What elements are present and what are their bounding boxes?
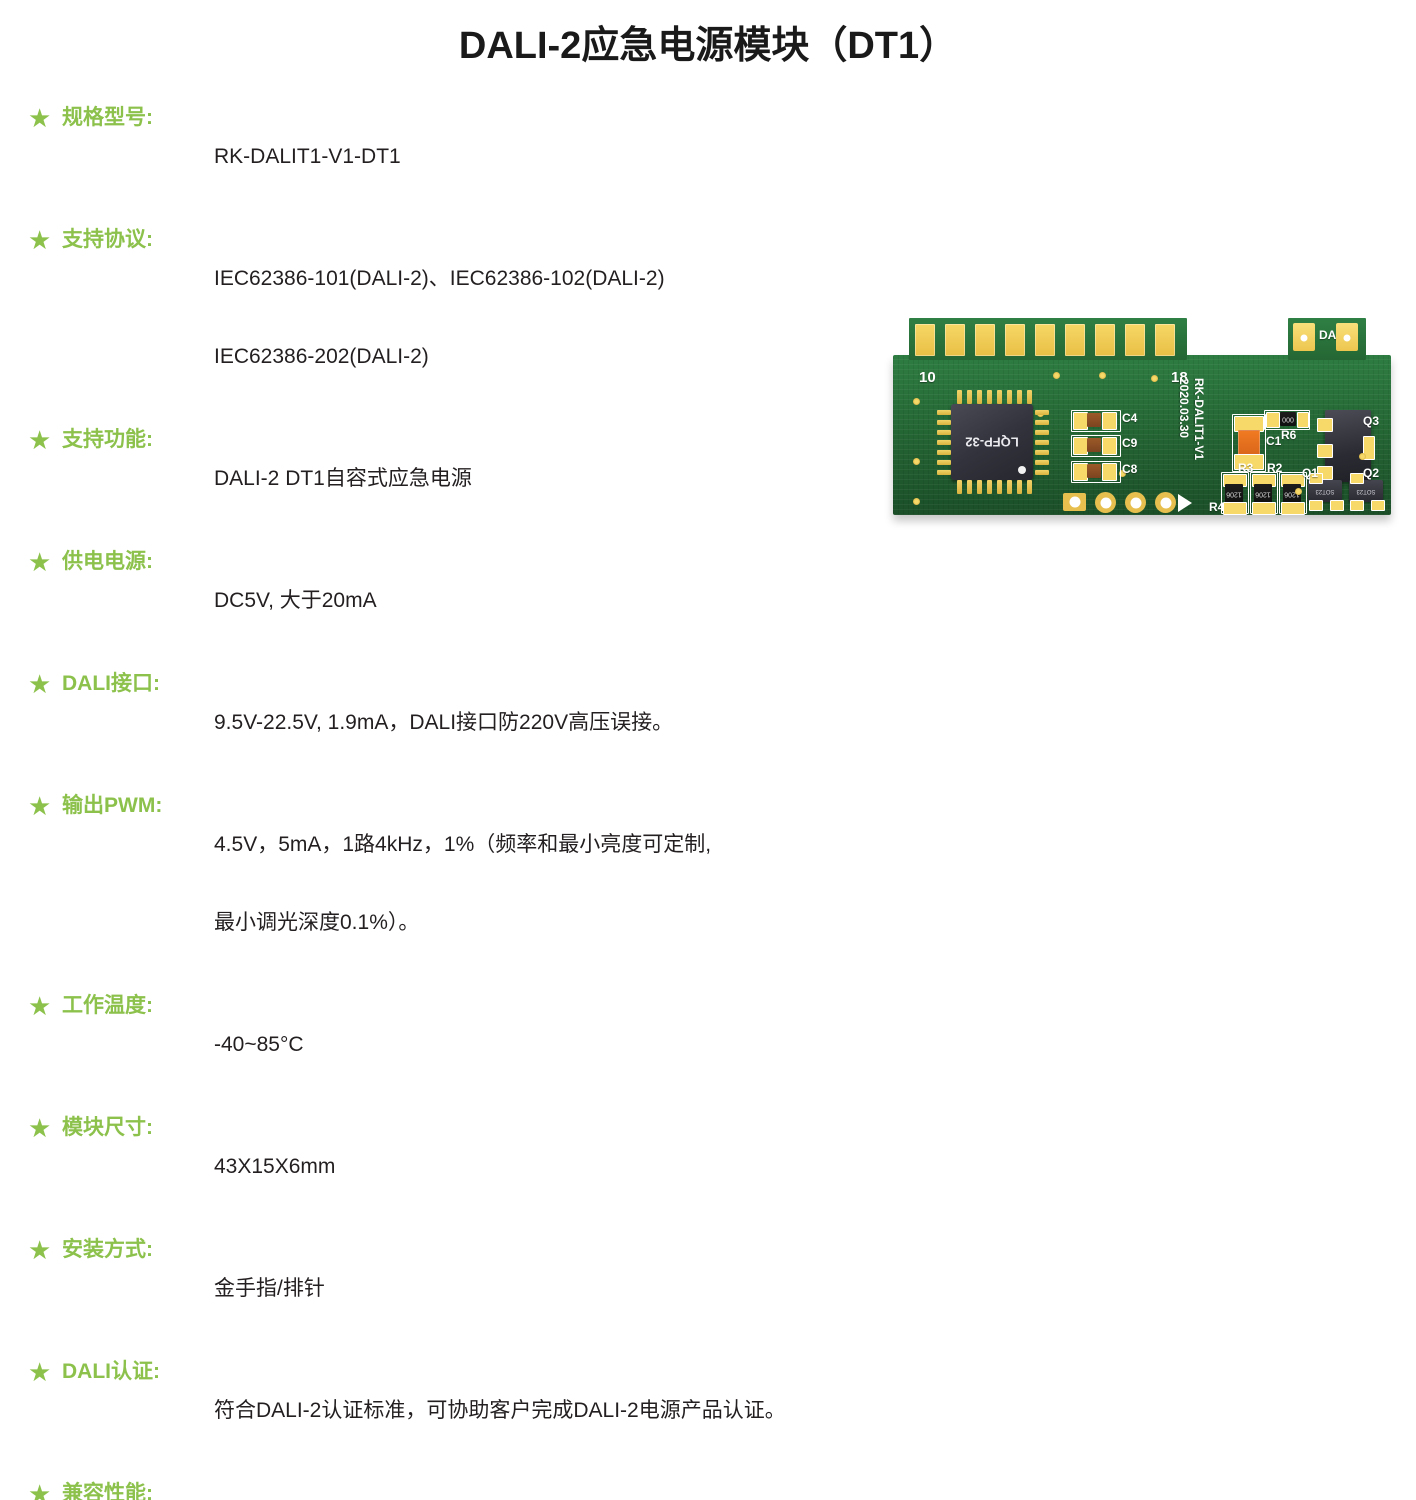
resistor-body: 1206 <box>1254 484 1272 504</box>
spec-row: ★ 安装方式: 金手指/排针 <box>28 1231 988 1347</box>
silkscreen-c8: C8 <box>1122 462 1137 476</box>
da-pad <box>1293 323 1315 351</box>
spec-value-line: 43X15X6mm <box>214 1147 988 1187</box>
product-spec-sheet: DALI-2应急电源模块（DT1） ★ 规格型号: RK-DALIT1-V1-D… <box>0 0 1416 750</box>
spec-label: 模块尺寸: <box>62 1109 214 1147</box>
gold-finger-pad <box>1065 324 1085 356</box>
spec-value-line: 最小调光深度0.1%）。 <box>214 903 988 943</box>
silkscreen-c4: C4 <box>1122 411 1137 425</box>
chip-pin <box>957 390 962 404</box>
gold-finger-pad <box>1125 324 1145 356</box>
pad-hole <box>1160 497 1171 508</box>
silkscreen-r6: R6 <box>1281 428 1296 442</box>
spec-label: DALI认证: <box>62 1353 214 1391</box>
spec-value-line: IEC62386-202(DALI-2) <box>214 337 988 377</box>
spec-row: ★ 支持功能: DALI-2 DT1自容式应急电源 <box>28 421 988 537</box>
pcb-da-connector-tab: DA <box>1288 318 1366 360</box>
spec-value-line: 9.5V-22.5V, 1.9mA，DALI接口防220V高压误接。 <box>214 703 988 743</box>
test-pad <box>1155 492 1176 513</box>
component-body <box>1087 438 1101 452</box>
spec-value: -40~85°C <box>214 987 988 1103</box>
spec-value: 9.5V-22.5V, 1.9mA，DALI接口防220V高压误接。 <box>214 665 988 781</box>
spec-value: DALI-2 DT1自容式应急电源 <box>214 421 988 537</box>
chip-pin <box>1035 440 1049 445</box>
spec-value-line: -40~85°C <box>214 1025 988 1065</box>
silkscreen-q1: Q1 <box>1302 466 1318 480</box>
chip-pin <box>937 470 951 475</box>
silkscreen-da-label: DA <box>1319 328 1336 342</box>
via <box>913 498 920 505</box>
star-icon: ★ <box>28 787 62 825</box>
chip-pin <box>937 430 951 435</box>
chip-pin <box>987 480 992 494</box>
spec-value-line: 金手指/排针 <box>214 1269 988 1309</box>
spec-row: ★ 规格型号: RK-DALIT1-V1-DT1 <box>28 99 988 215</box>
chip-pin <box>1027 390 1032 404</box>
chip-pin <box>987 390 992 404</box>
spec-value-line: DALI-2 DT1自容式应急电源 <box>214 459 988 499</box>
spec-value: RK-DALIT1-V1-DT1 <box>214 99 988 215</box>
spec-row: ★ 模块尺寸: 43X15X6mm <box>28 1109 988 1225</box>
spec-value: 4.5V，5mA，1路4kHz，1%（频率和最小亮度可定制, 最小调光深度0.1… <box>214 787 988 981</box>
chip-pin <box>1017 390 1022 404</box>
spec-row: ★ 工作温度: -40~85°C <box>28 987 988 1103</box>
spec-row: ★ DALI认证: 符合DALI-2认证标准，可协助客户完成DALI-2电源产品… <box>28 1353 988 1469</box>
spec-row: ★ 输出PWM: 4.5V，5mA，1路4kHz，1%（频率和最小亮度可定制, … <box>28 787 988 981</box>
chip-pin <box>1017 480 1022 494</box>
chip-pin <box>937 410 951 415</box>
orientation-arrow-icon <box>1178 494 1192 512</box>
spec-row: ★ 供电电源: DC5V, 大于20mA <box>28 543 988 659</box>
resistor-code: 000 <box>1282 416 1294 423</box>
spec-list: ★ 规格型号: RK-DALIT1-V1-DT1 ★ 支持协议: IEC6238… <box>28 99 988 1500</box>
chip-pin <box>937 420 951 425</box>
pad-hole <box>1344 335 1351 342</box>
chip-pin <box>957 480 962 494</box>
gold-finger-pad <box>1035 324 1055 356</box>
solder-pad <box>1309 500 1323 511</box>
chip-pin <box>967 480 972 494</box>
test-pad-square <box>1063 493 1086 511</box>
chip-pin <box>967 390 972 404</box>
mcu-lqfp32-chip: LQFP-32 <box>951 404 1033 480</box>
spec-label: 供电电源: <box>62 543 214 581</box>
solder-pad <box>1371 500 1385 511</box>
spec-label: DALI接口: <box>62 665 214 703</box>
chip-pin <box>977 480 982 494</box>
pad-hole <box>1069 497 1080 508</box>
chip-pin <box>1007 480 1012 494</box>
via <box>1359 453 1366 460</box>
solder-pad <box>1266 412 1280 428</box>
solder-pad <box>1350 473 1364 484</box>
spec-label: 安装方式: <box>62 1231 214 1269</box>
star-icon: ★ <box>28 421 62 459</box>
pcb-edge-connector-tab <box>909 318 1187 360</box>
solder-pad <box>1297 412 1309 428</box>
star-icon: ★ <box>28 1475 62 1500</box>
resistor-code: 1206 <box>1255 491 1271 498</box>
spec-label: 规格型号: <box>62 99 214 137</box>
chip-pin <box>937 450 951 455</box>
chip-pin <box>997 390 1002 404</box>
spec-value-line: 4.5V，5mA，1路4kHz，1%（频率和最小亮度可定制, <box>214 825 988 865</box>
page-title: DALI-2应急电源模块（DT1） <box>0 14 1416 69</box>
silkscreen-q2: Q2 <box>1363 466 1379 480</box>
spec-row: ★ DALI接口: 9.5V-22.5V, 1.9mA，DALI接口防220V高… <box>28 665 988 781</box>
gold-finger-pad <box>1005 324 1025 356</box>
pad-hole <box>1130 497 1141 508</box>
resistor-r6-body: 000 <box>1280 412 1296 426</box>
chip-pin <box>1035 460 1049 465</box>
chip-marking: LQFP-32 <box>965 435 1018 450</box>
chip-pin <box>1035 450 1049 455</box>
spec-label: 支持协议: <box>62 221 214 259</box>
spec-value: IEC62386-101(DALI-2)、IEC62386-102(DALI-2… <box>214 221 988 415</box>
solder-pad <box>1073 437 1088 455</box>
test-pad <box>1125 492 1146 513</box>
chip-pin <box>937 460 951 465</box>
pin1-marker <box>1018 466 1026 474</box>
spec-value: 符合DALI-2认证标准，可协助客户完成DALI-2电源产品认证。 <box>214 1353 988 1469</box>
silkscreen-date-code: 2020.03.30 <box>1177 378 1191 438</box>
solder-pad <box>1223 502 1247 515</box>
silkscreen-c1: C1 <box>1266 434 1281 448</box>
spec-row: ★ 支持协议: IEC62386-101(DALI-2)、IEC62386-10… <box>28 221 988 415</box>
resistor-body: 1206 <box>1225 484 1243 504</box>
transistor-marking: SOT23 <box>1315 488 1334 494</box>
spec-value: 金手指/排针 <box>214 1231 988 1347</box>
via <box>913 398 920 405</box>
star-icon: ★ <box>28 543 62 581</box>
star-icon: ★ <box>28 221 62 259</box>
spec-value: 43X15X6mm <box>214 1109 988 1225</box>
solder-pad <box>1350 500 1364 511</box>
via <box>913 458 920 465</box>
chip-pin <box>1027 480 1032 494</box>
spec-value-line: RK-DALIT1-V1-DT1 <box>214 137 988 177</box>
star-icon: ★ <box>28 987 62 1025</box>
solder-pad <box>1317 444 1333 458</box>
spec-row: ★ 兼容性能: 兼容TRIDONIC、OSRAM、PHILIPS、Helvar、… <box>28 1475 988 1500</box>
spec-value: 兼容TRIDONIC、OSRAM、PHILIPS、Helvar、JUNG、ABB… <box>214 1475 988 1500</box>
via <box>1099 372 1106 379</box>
pad-hole <box>1301 335 1308 342</box>
silkscreen-q3: Q3 <box>1363 414 1379 428</box>
resistor-code: 1206 <box>1226 491 1242 498</box>
solder-pad <box>1281 502 1305 515</box>
via <box>1295 488 1302 495</box>
chip-pin <box>1035 410 1049 415</box>
pad-hole <box>1100 497 1111 508</box>
chip-pin <box>977 390 982 404</box>
test-pad <box>1095 492 1116 513</box>
spec-label: 支持功能: <box>62 421 214 459</box>
solder-pad <box>1252 502 1276 515</box>
chip-pin <box>997 480 1002 494</box>
silkscreen-c9: C9 <box>1122 436 1137 450</box>
silkscreen-pin-10: 10 <box>919 369 936 386</box>
star-icon: ★ <box>28 665 62 703</box>
spec-value: DC5V, 大于20mA <box>214 543 988 659</box>
chip-pin <box>937 440 951 445</box>
component-body <box>1087 413 1101 427</box>
solder-pad <box>1073 463 1088 481</box>
spec-value-line: 符合DALI-2认证标准，可协助客户完成DALI-2电源产品认证。 <box>214 1391 988 1431</box>
solder-pad <box>1330 500 1344 511</box>
chip-pin <box>1035 430 1049 435</box>
spec-label: 兼容性能: <box>62 1475 214 1500</box>
chip-pin <box>1035 420 1049 425</box>
solder-pad <box>1102 437 1117 455</box>
pcb-board-image: DA 10 18 RK-DALIT1-V1 2020.03.30 LQFP-32 <box>893 318 1403 523</box>
silkscreen-part-number: RK-DALIT1-V1 <box>1192 378 1206 460</box>
solder-pad <box>1317 418 1333 432</box>
spec-value-line: DC5V, 大于20mA <box>214 581 988 621</box>
transistor-marking: SOT23 <box>1356 488 1375 494</box>
solder-pad <box>1073 412 1088 430</box>
gold-finger-pad <box>1095 324 1115 356</box>
star-icon: ★ <box>28 1109 62 1147</box>
gold-finger-pad <box>1155 324 1175 356</box>
via <box>1053 372 1060 379</box>
gold-finger-pad <box>945 324 965 356</box>
star-icon: ★ <box>28 1231 62 1269</box>
star-icon: ★ <box>28 99 62 137</box>
gold-finger-pad <box>915 324 935 356</box>
via <box>1151 375 1158 382</box>
component-body <box>1087 464 1101 478</box>
spec-value-line: IEC62386-101(DALI-2)、IEC62386-102(DALI-2… <box>214 259 988 299</box>
da-pad <box>1336 323 1358 351</box>
solder-pad <box>1102 412 1117 430</box>
chip-pin <box>1035 470 1049 475</box>
chip-pin <box>1007 390 1012 404</box>
spec-label: 输出PWM: <box>62 787 214 825</box>
spec-label: 工作温度: <box>62 987 214 1025</box>
gold-finger-pad <box>975 324 995 356</box>
star-icon: ★ <box>28 1353 62 1391</box>
solder-pad <box>1102 463 1117 481</box>
